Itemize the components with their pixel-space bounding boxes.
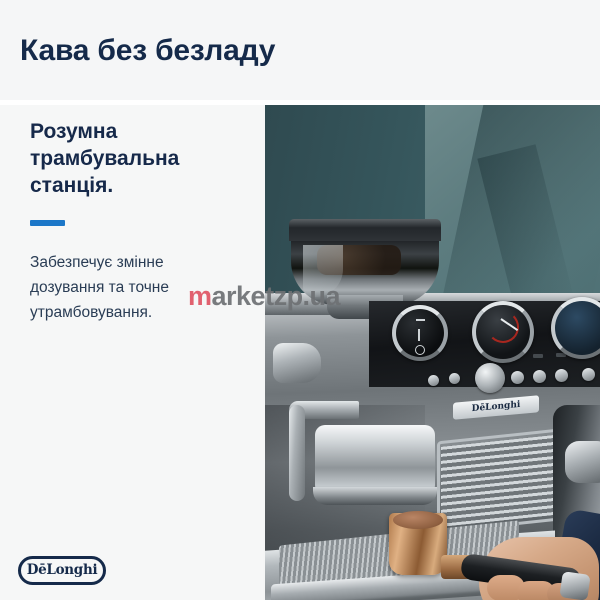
delonghi-logo-text: DēLonghi <box>27 564 98 578</box>
accent-divider-bar <box>30 220 65 226</box>
control-button <box>582 368 595 381</box>
delonghi-logo: DēLonghi <box>18 556 106 585</box>
hopper-lid <box>289 219 441 241</box>
grind-dial-marking <box>415 345 425 355</box>
cup-warming-grate <box>441 435 553 527</box>
promo-banner: Кава без безладу Розумна трамбувальна ст… <box>0 0 600 600</box>
portafilter-handle-cap <box>559 571 590 600</box>
group-head-rim <box>313 487 437 505</box>
grind-dial-marking <box>418 329 420 341</box>
control-button <box>449 373 460 384</box>
control-button <box>428 375 439 386</box>
feature-description: Забезпечує змінне дозування та точне утр… <box>30 250 240 325</box>
control-button <box>511 371 524 384</box>
steam-wand <box>289 405 305 501</box>
steam-control-knob <box>273 343 321 383</box>
feature-heading: Розумна трамбувальна станція. <box>30 118 245 199</box>
machine-brand-badge-text: DēLonghi <box>472 401 521 414</box>
control-button <box>533 370 546 383</box>
product-photo: DēLonghi <box>265 105 600 600</box>
control-button <box>555 369 568 382</box>
panel-label <box>533 354 543 358</box>
grind-dial-marking <box>416 319 425 321</box>
page-title: Кава без безладу <box>20 34 275 68</box>
tamping-station-knob <box>565 441 600 483</box>
selector-knob <box>475 363 505 393</box>
tamped-coffee-puck <box>393 511 443 529</box>
